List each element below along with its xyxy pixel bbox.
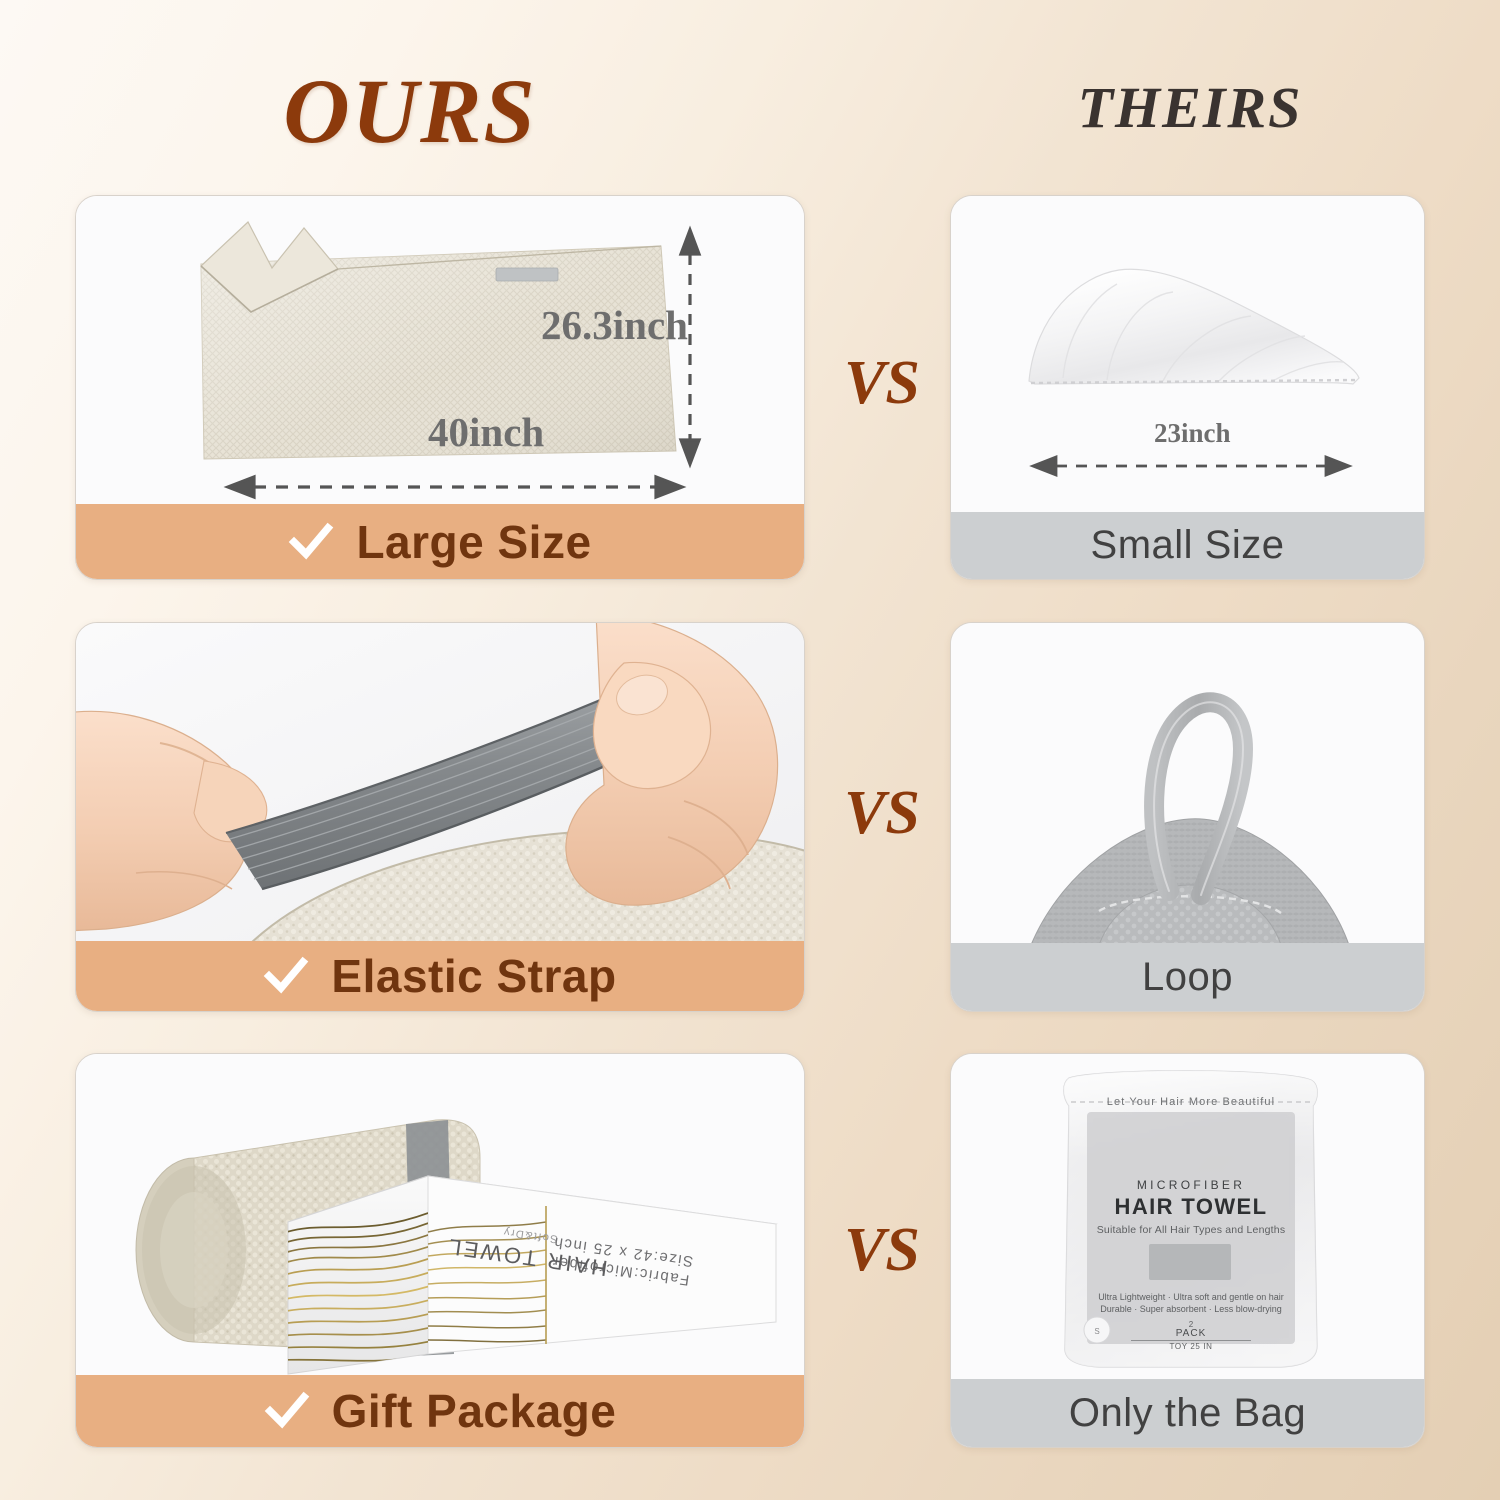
only-the-bag-photo: S Let Your Hair More Beautiful MICROFIBE… xyxy=(951,1054,1424,1381)
caption-text: Gift Package xyxy=(332,1384,617,1438)
ours-caption-gift-package: Gift Package xyxy=(76,1375,804,1447)
ours-caption-large-size: Large Size xyxy=(76,504,804,579)
check-icon xyxy=(264,1388,310,1434)
gift-package-photo: Fabric:Microfiber Size:42 x 25 inch HAIR… xyxy=(76,1054,804,1377)
theirs-header: THEIRS xyxy=(940,74,1440,141)
theirs-panel-loop: Loop xyxy=(950,622,1425,1012)
ours-header: OURS xyxy=(0,58,820,164)
check-icon xyxy=(288,519,334,565)
width-dimension-label: 23inch xyxy=(1154,418,1231,449)
vs-separator-1: VS xyxy=(812,348,952,419)
caption-text: Large Size xyxy=(356,515,591,569)
theirs-panel-small-size: 23inch Small Size xyxy=(950,195,1425,580)
theirs-caption-loop: Loop xyxy=(951,943,1424,1011)
theirs-caption-small-size: Small Size xyxy=(951,512,1424,579)
vs-separator-2: VS xyxy=(812,778,952,849)
caption-text: Elastic Strap xyxy=(331,949,616,1003)
comparison-infographic: OURS THEIRS xyxy=(0,0,1500,1500)
ours-caption-elastic-strap: Elastic Strap xyxy=(76,941,804,1011)
check-icon xyxy=(263,953,309,999)
svg-text:S: S xyxy=(1094,1327,1099,1336)
loop-photo xyxy=(951,623,1424,945)
ours-panel-gift-package: Fabric:Microfiber Size:42 x 25 inch HAIR… xyxy=(75,1053,805,1448)
large-size-photo: 26.3inch 40inch xyxy=(76,196,804,506)
vs-separator-3: VS xyxy=(812,1215,952,1286)
theirs-panel-only-the-bag: S Let Your Hair More Beautiful MICROFIBE… xyxy=(950,1053,1425,1448)
ours-panel-large-size: 26.3inch 40inch Large Size xyxy=(75,195,805,580)
elastic-strap-photo xyxy=(76,623,804,943)
height-dimension-label: 26.3inch xyxy=(541,301,688,349)
caption-text: Small Size xyxy=(1091,523,1285,568)
width-dimension-label: 40inch xyxy=(428,408,544,456)
ours-panel-elastic-strap: Elastic Strap xyxy=(75,622,805,1012)
caption-text: Loop xyxy=(1142,955,1233,1000)
theirs-caption-only-the-bag: Only the Bag xyxy=(951,1379,1424,1447)
caption-text: Only the Bag xyxy=(1069,1391,1306,1436)
small-size-photo: 23inch xyxy=(951,196,1424,514)
